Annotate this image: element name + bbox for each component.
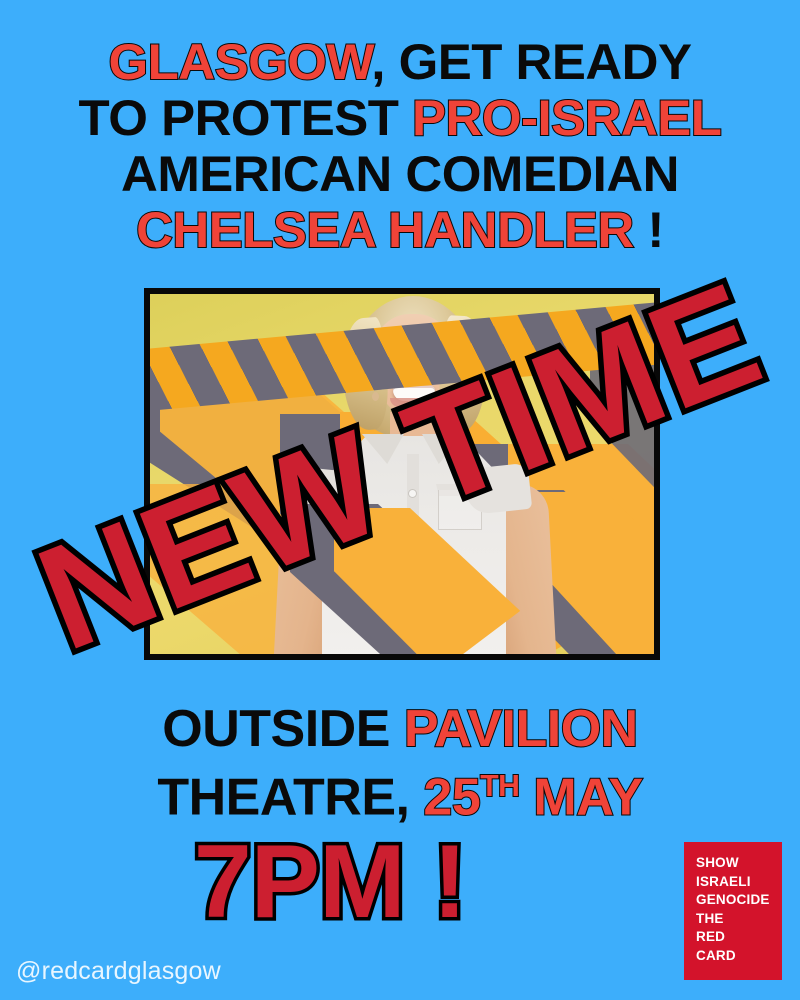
- venue-details: OUTSIDE PAVILION THEATRE, 25TH MAY: [0, 700, 800, 827]
- headline-line-2: TO PROTEST PRO-ISRAEL: [0, 90, 800, 146]
- venue-line-2: THEATRE, 25TH MAY: [0, 758, 800, 827]
- badge-line-3: GENOCIDE: [696, 891, 782, 910]
- protest-poster: GLASGOW, GET READY TO PROTEST PRO-ISRAEL…: [0, 0, 800, 1000]
- headline-subject-name: CHELSEA HANDLER: [136, 202, 634, 258]
- page-title: GLASGOW, GET READY TO PROTEST PRO-ISRAEL…: [0, 34, 800, 258]
- campaign-logo-badge: SHOW ISRAELI GENOCIDE THE RED CARD: [684, 842, 782, 980]
- event-day: 25: [423, 769, 480, 827]
- social-handle: @redcardglasgow: [16, 957, 221, 986]
- event-month: MAY: [519, 769, 642, 827]
- badge-line-2: ISRAELI: [696, 873, 782, 892]
- headline-pro-israel: PRO-ISRAEL: [412, 90, 721, 146]
- venue-line-1: OUTSIDE PAVILION: [0, 700, 800, 758]
- badge-line-1: SHOW: [696, 854, 782, 873]
- event-time: 7PM !: [0, 828, 660, 936]
- venue-name: PAVILION: [404, 700, 638, 758]
- badge-line-6: CARD: [696, 947, 782, 966]
- headline-line-1: GLASGOW, GET READY: [0, 34, 800, 90]
- headline-line-1-rest: , GET READY: [371, 34, 691, 90]
- headline-exclamation: !: [634, 202, 664, 258]
- headline-line-4: CHELSEA HANDLER !: [0, 202, 800, 258]
- badge-line-4: THE: [696, 910, 782, 929]
- event-day-suffix: TH: [480, 770, 519, 803]
- headline-line-3: AMERICAN COMEDIAN: [0, 146, 800, 202]
- venue-theatre-label: THEATRE,: [157, 769, 423, 827]
- venue-outside-label: OUTSIDE: [162, 700, 404, 758]
- event-time-value: 7PM !: [194, 824, 466, 940]
- headline-city: GLASGOW: [108, 34, 371, 90]
- headline-line-2-lead: TO PROTEST: [79, 90, 412, 146]
- badge-line-5: RED: [696, 928, 782, 947]
